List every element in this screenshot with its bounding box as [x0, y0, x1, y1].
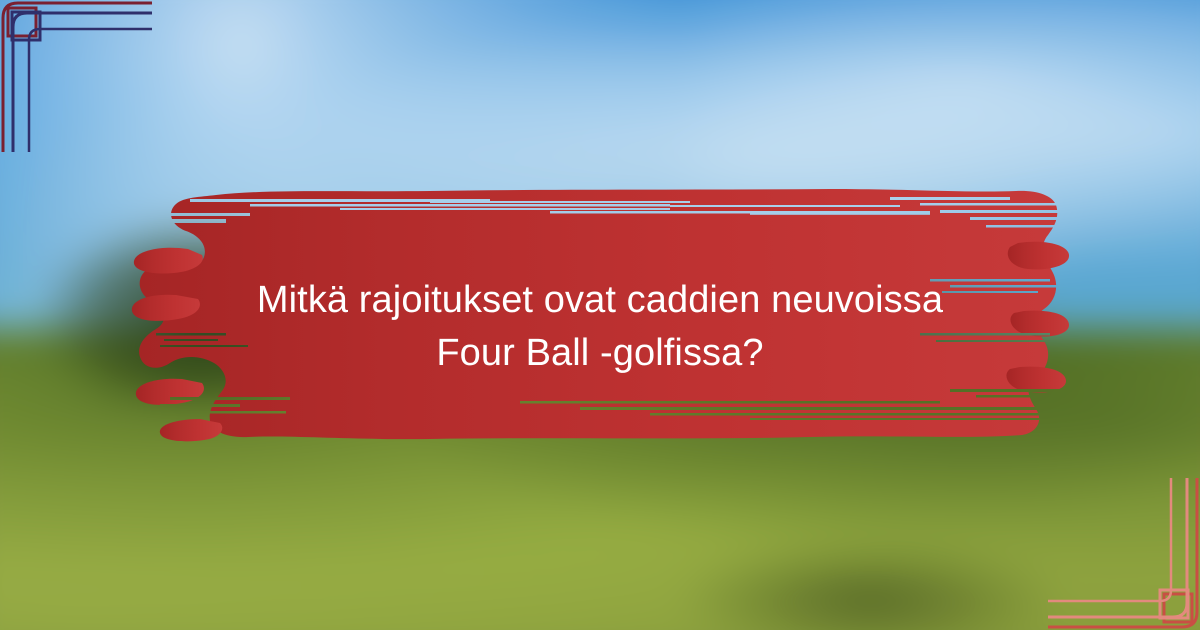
headline-line-1: Mitkä rajoitukset ovat caddien neuvoissa — [170, 274, 1030, 327]
headline-text: Mitkä rajoitukset ovat caddien neuvoissa… — [0, 274, 1200, 380]
headline-line-2: Four Ball -golfissa? — [170, 327, 1030, 380]
ground-shadow — [677, 542, 1061, 630]
share-card: Mitkä rajoitukset ovat caddien neuvoissa… — [0, 0, 1200, 630]
